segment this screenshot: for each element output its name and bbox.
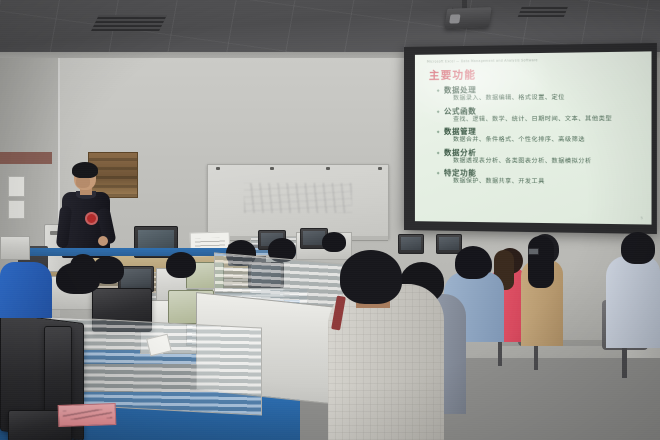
- slide-group-heading: 数据分析: [437, 148, 643, 158]
- slide-group-detail: 数据录入、数据编辑、格式设置、定位: [437, 94, 643, 103]
- whiteboard-clip: [326, 167, 330, 170]
- workstation-monitor: [398, 234, 424, 254]
- slide-body: 数据处理 数据录入、数据编辑、格式设置、定位 公式函数 查找、逻辑、数学、统计、…: [437, 84, 643, 191]
- student-right-light-shirt-head: [621, 232, 655, 264]
- slide-header-text: Microsoft Excel — Data Management and An…: [427, 57, 643, 64]
- slide-group: 公式函数 查找、逻辑、数学、统计、日期时间、文本、其他类型: [437, 105, 643, 124]
- slide-group-detail: 数据合并、条件格式、个性化排序、高级筛选: [437, 137, 643, 145]
- slide-group-detail: 数据透视表分析、各类图表分析、数据模拟分析: [437, 158, 643, 166]
- slide-group: 特定功能 数据保护、数据共享、开发工具: [437, 169, 643, 188]
- chair-leg: [498, 340, 502, 366]
- instructor-shirt-logo: [85, 212, 98, 225]
- monitor-screen: [439, 237, 459, 250]
- eyeglasses-icon: [528, 248, 539, 255]
- slide-group-heading: 数据管理: [437, 127, 643, 137]
- workstation-monitor: [436, 234, 462, 254]
- monitor-screen: [401, 237, 421, 250]
- ceiling-vent-icon: [91, 15, 167, 31]
- student-foreground-blazer-head: [340, 250, 402, 304]
- whiteboard-clip: [216, 167, 220, 170]
- desk-name-label: [58, 403, 117, 427]
- instructor-hand: [98, 236, 108, 246]
- slide-group-detail: 查找、逻辑、数学、统计、日期时间、文本、其他类型: [437, 116, 643, 124]
- slide-group-heading: 公式函数: [437, 105, 643, 115]
- whiteboard-clip: [378, 167, 382, 170]
- student-head: [166, 252, 196, 278]
- chair-leg: [534, 344, 538, 370]
- student-head: [56, 262, 100, 294]
- projection-screen: Microsoft Excel — Data Management and An…: [404, 43, 657, 234]
- student-tan-jacket-hair: [528, 236, 554, 288]
- cubicle-partition: [0, 236, 30, 260]
- student-head: [322, 232, 346, 252]
- wall-notice-sheet: [8, 176, 25, 197]
- classroom-photo-scene: Microsoft Excel — Data Management and An…: [0, 0, 660, 440]
- projector-icon: [444, 7, 491, 29]
- slide-group-heading: 数据处理: [437, 84, 643, 95]
- whiteboard-erased-writing: [244, 183, 352, 213]
- whiteboard: [207, 164, 389, 239]
- student-right-light-shirt-body: [606, 256, 660, 348]
- projected-slide: Microsoft Excel — Data Management and An…: [415, 51, 652, 224]
- whiteboard-clip: [270, 167, 274, 170]
- student-blue-shirt-head: [455, 246, 491, 279]
- slide-group-detail: 数据保护、数据共享、开发工具: [437, 179, 643, 188]
- wall-notice-sheet-secondary: [8, 200, 25, 219]
- chair-leg: [622, 348, 627, 378]
- wall-accent-strip: [0, 152, 52, 164]
- monitor-screen: [121, 269, 151, 288]
- slide-title: 主要功能: [429, 67, 476, 83]
- instructor-hair: [72, 162, 98, 178]
- slide-group: 数据管理 数据合并、条件格式、个性化排序、高级筛选: [437, 127, 643, 145]
- slide-page-number: 5: [640, 216, 642, 220]
- slide-group: 数据分析 数据透视表分析、各类图表分析、数据模拟分析: [437, 148, 643, 166]
- desk-label-handwriting: [63, 409, 112, 420]
- ceiling-vent-secondary-icon: [518, 6, 568, 17]
- student-blue-jacket-body: [0, 262, 52, 318]
- slide-group: 数据处理 数据录入、数据编辑、格式设置、定位: [437, 84, 643, 103]
